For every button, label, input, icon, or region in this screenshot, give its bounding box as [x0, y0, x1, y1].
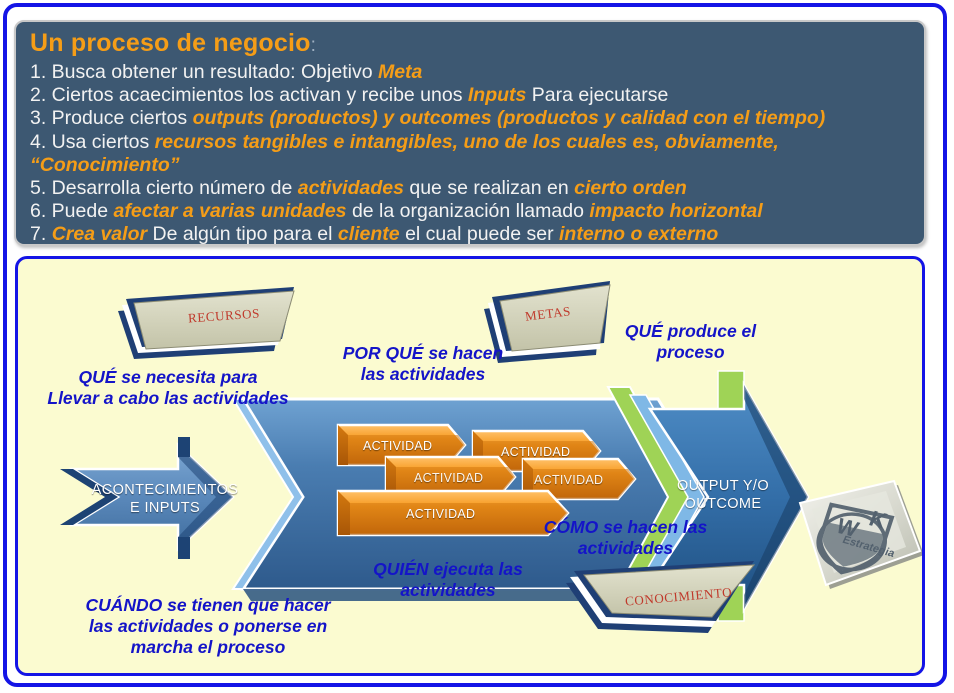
panel-line-8-part-6: interno o externo — [559, 223, 718, 245]
panel-line-5: “Conocimiento” — [30, 154, 914, 177]
panel-line-5-part-1: “Conocimiento” — [30, 154, 180, 176]
slide-root: Un proceso de negocio: 1. Busca obtener … — [0, 0, 954, 693]
panel-line-1-part-2: Meta — [378, 61, 422, 83]
panel-line-8-part-4: cliente — [338, 223, 400, 245]
activity-label-1: ACTIVIDAD — [363, 439, 432, 453]
panel-line-7-part-2: afectar a varias unidades — [113, 200, 346, 222]
note-output-line2: proceso — [598, 342, 783, 363]
note-recursos: QUÉ se necesita para Llevar a cabo las a… — [38, 367, 298, 409]
panel-title: Un proceso de negocio: — [30, 28, 914, 61]
note-metas: POR QUÉ se hacen las actividades — [323, 343, 523, 385]
panel-line-3-part-1: 3. Produce ciertos — [30, 107, 193, 129]
business-process-text-panel: Un proceso de negocio: 1. Busca obtener … — [14, 20, 926, 246]
panel-line-8-part-1: 7. — [30, 223, 52, 245]
note-conocimiento-line2: actividades — [518, 538, 733, 559]
note-metas-line1: POR QUÉ se hacen — [323, 343, 523, 364]
input-arrow-line1: ACONTECIMIENTOS — [90, 481, 240, 499]
panel-line-7: 6. Puede afectar a varias unidades de la… — [30, 200, 914, 223]
panel-line-8: 7. Crea valor De algún tipo para el clie… — [30, 223, 914, 246]
activity-label-2: ACTIVIDAD — [501, 445, 570, 459]
note-quien-line1: QUIÉN ejecuta las — [348, 559, 548, 580]
panel-line-2-part-1: 2. Ciertos acaecimientos los activan y r… — [30, 84, 468, 106]
note-conocimiento-line1: CÓMO se hacen las — [518, 517, 733, 538]
panel-line-2: 2. Ciertos acaecimientos los activan y r… — [30, 84, 914, 107]
panel-line-6: 5. Desarrolla cierto número de actividad… — [30, 177, 914, 200]
panel-line-1-part-1: 1. Busca obtener un resultado: Objetivo — [30, 61, 378, 83]
panel-line-1: 1. Busca obtener un resultado: Objetivo … — [30, 61, 914, 84]
input-arrow-label: ACONTECIMIENTOS E INPUTS — [90, 481, 240, 517]
activity-label-3: ACTIVIDAD — [414, 471, 483, 485]
activity-label-5: ACTIVIDAD — [406, 507, 475, 521]
input-arrow-line2: E INPUTS — [90, 499, 240, 517]
panel-line-4: 4. Usa ciertos recursos tangibles e inta… — [30, 131, 914, 154]
output-arrow-line1: OUTPUT Y/O — [658, 477, 788, 495]
panel-line-3-part-2: outputs (productos) y outcomes (producto… — [193, 107, 826, 129]
note-cuando-line1: CUÁNDO se tienen que hacer — [53, 595, 363, 616]
note-metas-line2: las actividades — [323, 364, 523, 385]
process-diagram-panel: RECURSOS METAS CONOCIMIENTO ACONTECIMIEN… — [15, 256, 925, 676]
note-conocimiento: CÓMO se hacen las actividades — [518, 517, 733, 559]
diagram-canvas: RECURSOS METAS CONOCIMIENTO ACONTECIMIEN… — [18, 259, 922, 673]
panel-line-6-part-2: actividades — [298, 177, 404, 199]
panel-line-7-part-1: 6. Puede — [30, 200, 113, 222]
panel-line-6-part-3: que se realizan en — [404, 177, 574, 199]
panel-line-8-part-5: el cual puede ser — [400, 223, 559, 245]
note-output: QUÉ produce el proceso — [598, 321, 783, 363]
note-recursos-line2: Llevar a cabo las actividades — [38, 388, 298, 409]
panel-line-4-part-2: recursos tangibles e intangibles, uno de… — [155, 131, 779, 153]
wk-estrategia-logo — [800, 481, 924, 589]
note-quien: QUIÉN ejecuta las actividades — [348, 559, 548, 601]
panel-line-8-part-3: De algún tipo para el — [147, 223, 338, 245]
panel-line-6-part-4: cierto orden — [574, 177, 687, 199]
note-cuando-line3: marcha el proceso — [53, 637, 363, 658]
panel-line-8-part-2: Crea valor — [52, 223, 147, 245]
note-cuando: CUÁNDO se tienen que hacer las actividad… — [53, 595, 363, 658]
note-quien-line2: actividades — [348, 580, 548, 601]
note-cuando-line2: las actividades o ponerse en — [53, 616, 363, 637]
panel-line-7-part-4: impacto horizontal — [589, 200, 762, 222]
panel-line-3: 3. Produce ciertos outputs (productos) y… — [30, 107, 914, 130]
output-arrow-label: OUTPUT Y/O OUTCOME — [658, 477, 788, 513]
panel-line-2-part-2: Inputs — [468, 84, 527, 106]
panel-line-4-part-1: 4. Usa ciertos — [30, 131, 155, 153]
output-arrow-line2: OUTCOME — [658, 495, 788, 513]
panel-line-2-part-3: Para ejecutarse — [526, 84, 668, 106]
activity-label-4: ACTIVIDAD — [534, 473, 603, 487]
panel-line-list: 1. Busca obtener un resultado: Objetivo … — [30, 61, 914, 247]
panel-line-7-part-3: de la organización llamado — [347, 200, 590, 222]
note-output-line1: QUÉ produce el — [598, 321, 783, 342]
panel-title-text: Un proceso de negocio — [30, 29, 311, 57]
panel-title-colon: : — [311, 35, 316, 56]
note-recursos-line1: QUÉ se necesita para — [38, 367, 298, 388]
panel-line-6-part-1: 5. Desarrolla cierto número de — [30, 177, 298, 199]
